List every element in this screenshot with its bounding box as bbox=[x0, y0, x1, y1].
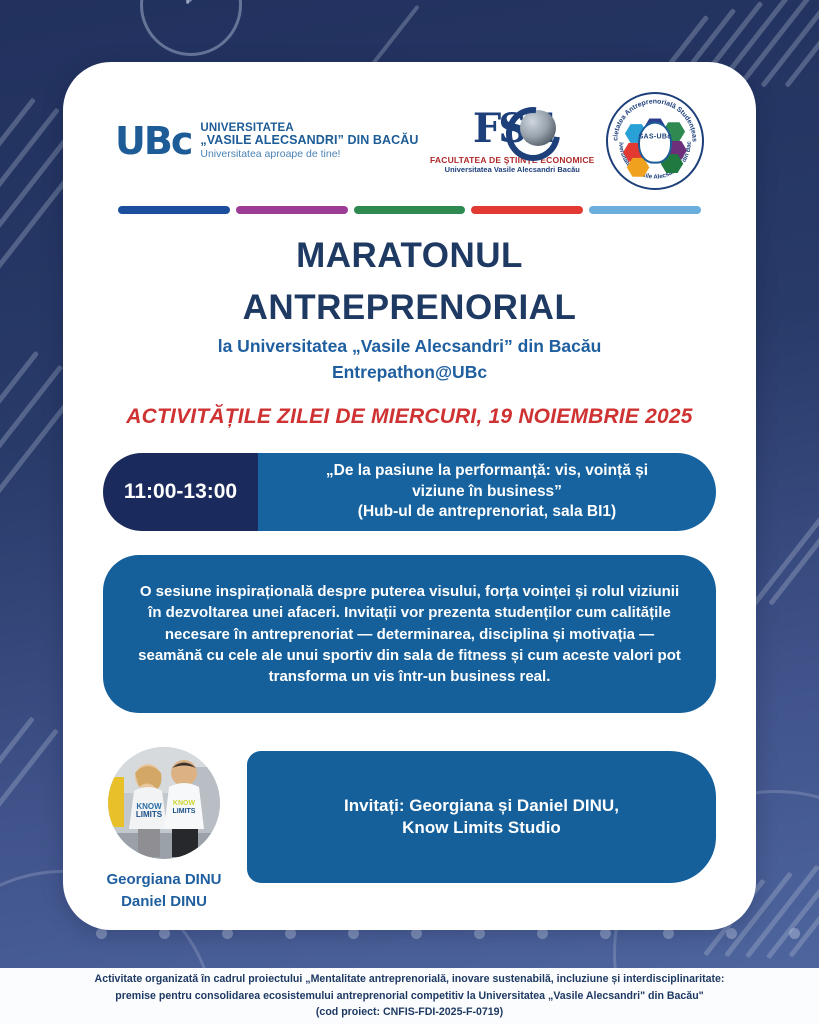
guest-name-line2: Daniel DINU bbox=[103, 891, 225, 913]
footer-line3: (cod proiect: CNFIS-FDI-2025-F-0719) bbox=[316, 1004, 503, 1020]
page-title-line1: MARATONUL bbox=[63, 236, 756, 276]
svg-text:LIMITS: LIMITS bbox=[173, 808, 196, 815]
fsec-logo-mark: FSE bbox=[473, 106, 552, 154]
guests-photo-icon: KNOW LIMITS KNOW LIMITS bbox=[108, 747, 220, 859]
footer: Activitate organizată în cadrul proiectu… bbox=[0, 968, 819, 1024]
fsec-logo-line1: FACULTATEA DE ŞTIINȚE ECONOMICE bbox=[430, 155, 595, 165]
clock-ring-icon bbox=[140, 0, 242, 56]
avatar: KNOW LIMITS KNOW LIMITS bbox=[108, 747, 220, 859]
guests-box-line1: Invitați: Georgiana și Daniel DINU, bbox=[344, 795, 619, 818]
clock-hands-icon bbox=[140, 0, 236, 50]
ubc-logo: UBc UNIVERSITATEA „VASILE ALECSANDRI” DI… bbox=[115, 122, 419, 160]
session-time: 11:00-13:00 bbox=[103, 453, 258, 531]
guest-name-line1: Georgiana DINU bbox=[103, 869, 225, 891]
session-description: O sesiune inspirațională despre puterea … bbox=[103, 555, 716, 713]
poster-card: UBc UNIVERSITATEA „VASILE ALECSANDRI” DI… bbox=[63, 62, 756, 930]
session-title: „De la pasiune la performanță: vis, voin… bbox=[258, 453, 716, 531]
svg-text:LIMITS: LIMITS bbox=[136, 810, 163, 819]
logo-row: UBc UNIVERSITATEA „VASILE ALECSANDRI” DI… bbox=[63, 62, 756, 190]
ubc-logo-line2: „VASILE ALECSANDRI” DIN BACĂU bbox=[200, 134, 418, 147]
ubc-logo-tagline: Universitatea aproape de tine! bbox=[200, 149, 418, 160]
fsec-logo-line2: Universitatea Vasile Alecsandri Bacău bbox=[430, 165, 595, 174]
sas-center-label: SAS-UBc bbox=[639, 134, 672, 141]
divider-segment-5 bbox=[589, 206, 701, 214]
color-divider bbox=[118, 206, 701, 214]
page-title-line2: ANTREPRENORIAL bbox=[63, 288, 756, 328]
lightbulb-icon bbox=[638, 122, 672, 164]
guests-section: KNOW LIMITS KNOW LIMITS Georgiana DINU D… bbox=[103, 747, 716, 913]
ubc-logo-mark: UBc bbox=[115, 122, 191, 160]
fsec-logo: FSE FACULTATEA DE ŞTIINȚE ECONOMICE Univ… bbox=[430, 106, 595, 174]
divider-segment-4 bbox=[471, 206, 583, 214]
session-title-line2: viziune în business” bbox=[326, 482, 648, 502]
divider-segment-1 bbox=[118, 206, 230, 214]
page-subtitle-line2: Entrepathon@UBc bbox=[63, 362, 756, 383]
sas-ubc-logo: Societatea Antreprenorială Studențească … bbox=[606, 92, 704, 190]
day-heading: ACTIVITĂȚILE ZILEI DE MIERCURI, 19 NOIEM… bbox=[63, 405, 756, 429]
page-subtitle-line1: la Universitatea „Vasile Alecsandri” din… bbox=[63, 336, 756, 357]
session-slot: 11:00-13:00 „De la pasiune la performanț… bbox=[103, 453, 716, 531]
guests-box: Invitați: Georgiana și Daniel DINU, Know… bbox=[247, 751, 716, 883]
divider-segment-2 bbox=[236, 206, 348, 214]
session-location: (Hub-ul de antreprenoriat, sala BI1) bbox=[326, 502, 648, 522]
footer-line2: premise pentru consolidarea ecosistemulu… bbox=[115, 988, 703, 1004]
svg-text:KNOW: KNOW bbox=[173, 800, 196, 807]
session-title-line1: „De la pasiune la performanță: vis, voin… bbox=[326, 461, 648, 481]
guests-box-line2: Know Limits Studio bbox=[344, 817, 619, 840]
divider-segment-3 bbox=[354, 206, 466, 214]
footer-line1: Activitate organizată în cadrul proiectu… bbox=[95, 971, 725, 987]
guest-profile: KNOW LIMITS KNOW LIMITS Georgiana DINU D… bbox=[103, 747, 225, 913]
